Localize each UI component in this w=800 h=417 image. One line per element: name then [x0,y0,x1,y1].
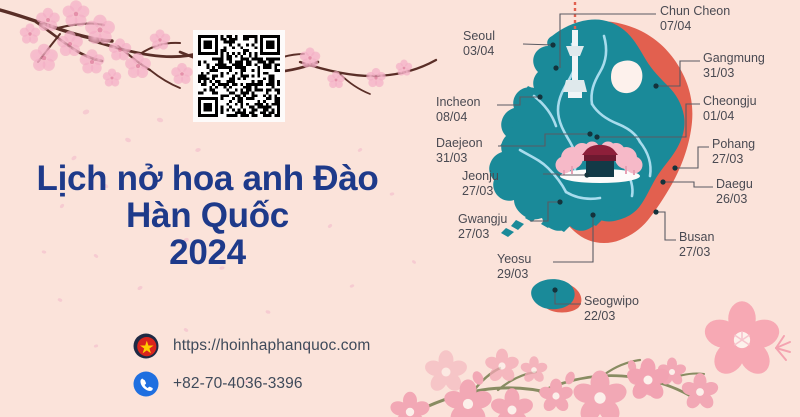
map-label-name: Chun Cheon [660,4,730,19]
map-label-name: Jeonju [462,169,499,184]
map-label-date: 01/04 [703,109,757,124]
map-label-seoul: Seoul03/04 [463,29,495,60]
map-label-pohang: Pohang27/03 [712,137,755,168]
phone-icon [133,371,159,397]
map-label-name: Pohang [712,137,755,152]
contact-block: https://hoinhaphanquoc.com +82-70-4036-3… [133,330,370,406]
poster-title: Lịch nở hoa anh Đào Hàn Quốc 2024 [0,160,415,271]
map-label-jeonju: Jeonju27/03 [462,169,499,200]
map-label-date: 27/03 [462,184,499,199]
cherry-blossom-branch-bottom [389,349,720,417]
map-label-date: 22/03 [584,309,639,324]
map-label-date: 27/03 [679,245,714,260]
map-label-daegu: Daegu26/03 [716,177,753,208]
map-label-name: Cheongju [703,94,757,109]
map-label-date: 29/03 [497,267,531,282]
map-label-date: 31/03 [436,151,483,166]
website-text: https://hoinhaphanquoc.com [173,337,370,355]
map-label-chun-cheon: Chun Cheon07/04 [660,4,730,35]
map-label-daejeon: Daejeon31/03 [436,136,483,167]
qr-code-canvas [198,35,280,117]
map-label-cheongju: Cheongju01/04 [703,94,757,125]
contact-row-website[interactable]: https://hoinhaphanquoc.com [133,330,370,362]
map-label-name: Busan [679,230,714,245]
map-label-date: 31/03 [703,66,765,81]
map-label-name: Incheon [436,95,480,110]
map-label-date: 07/04 [660,19,730,34]
map-label-name: Yeosu [497,252,531,267]
map-label-name: Gangmung [703,51,765,66]
contact-row-phone[interactable]: +82-70-4036-3396 [133,368,370,400]
map-label-date: 27/03 [458,227,507,242]
map-label-name: Daejeon [436,136,483,151]
title-line-1: Lịch nở hoa anh Đào [0,160,415,197]
map-label-name: Seogwipo [584,294,639,309]
map-label-yeosu: Yeosu29/03 [497,252,531,283]
map-label-incheon: Incheon08/04 [436,95,480,126]
map-label-seogwipo: Seogwipo22/03 [584,294,639,325]
map-label-date: 26/03 [716,192,753,207]
map-label-name: Seoul [463,29,495,44]
map-label-gangmung: Gangmung31/03 [703,51,765,82]
map-label-date: 03/04 [463,44,495,59]
map-label-busan: Busan27/03 [679,230,714,261]
phone-text: +82-70-4036-3396 [173,375,303,393]
vietnam-flag-logo-icon [133,333,159,359]
title-line-3: 2024 [0,234,415,271]
title-line-2: Hàn Quốc [0,197,415,234]
map-label-gwangju: Gwangju27/03 [458,212,507,243]
poster: Lịch nở hoa anh Đào Hàn Quốc 2024 https:… [0,0,800,417]
map-label-date: 27/03 [712,152,755,167]
qr-code[interactable] [193,30,285,122]
map-label-name: Daegu [716,177,753,192]
map-label-name: Gwangju [458,212,507,227]
map-label-date: 08/04 [436,110,480,125]
